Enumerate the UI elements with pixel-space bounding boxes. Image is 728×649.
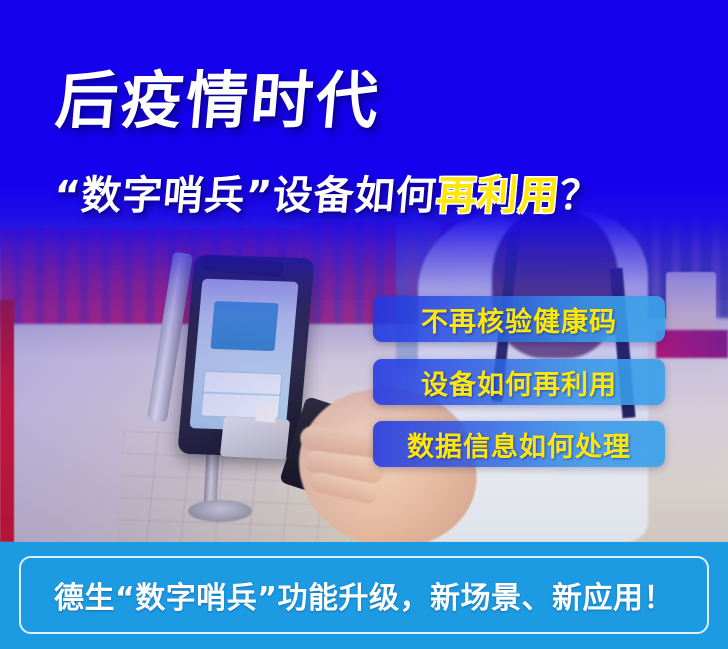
bottom-banner: 德生“数字哨兵”功能升级，新场景、新应用！: [0, 542, 728, 649]
pill-button-2[interactable]: 设备如何再利用: [373, 359, 665, 405]
page-title: 后疫情时代: [53, 70, 383, 132]
subtitle-highlight: 再利用: [435, 173, 562, 219]
pill-button-2-label: 设备如何再利用: [421, 363, 617, 402]
pill-button-3[interactable]: 数据信息如何处理: [373, 421, 665, 467]
page-subtitle: “数字哨兵”设备如何再利用？: [52, 176, 602, 216]
bottom-banner-text: 德生“数字哨兵”功能升级，新场景、新应用！: [54, 573, 674, 617]
subtitle-suffix: ？: [558, 173, 603, 219]
poster: 后疫情时代 “数字哨兵”设备如何再利用？ 不再核验健康码 设备如何再利用 数据信…: [0, 0, 728, 649]
pill-button-1-label: 不再核验健康码: [421, 300, 617, 339]
subtitle-prefix: “数字哨兵”设备如何: [52, 173, 439, 219]
pill-button-1[interactable]: 不再核验健康码: [373, 296, 665, 342]
pill-button-3-label: 数据信息如何处理: [407, 425, 631, 464]
bottom-banner-frame: 德生“数字哨兵”功能升级，新场景、新应用！: [19, 556, 709, 634]
